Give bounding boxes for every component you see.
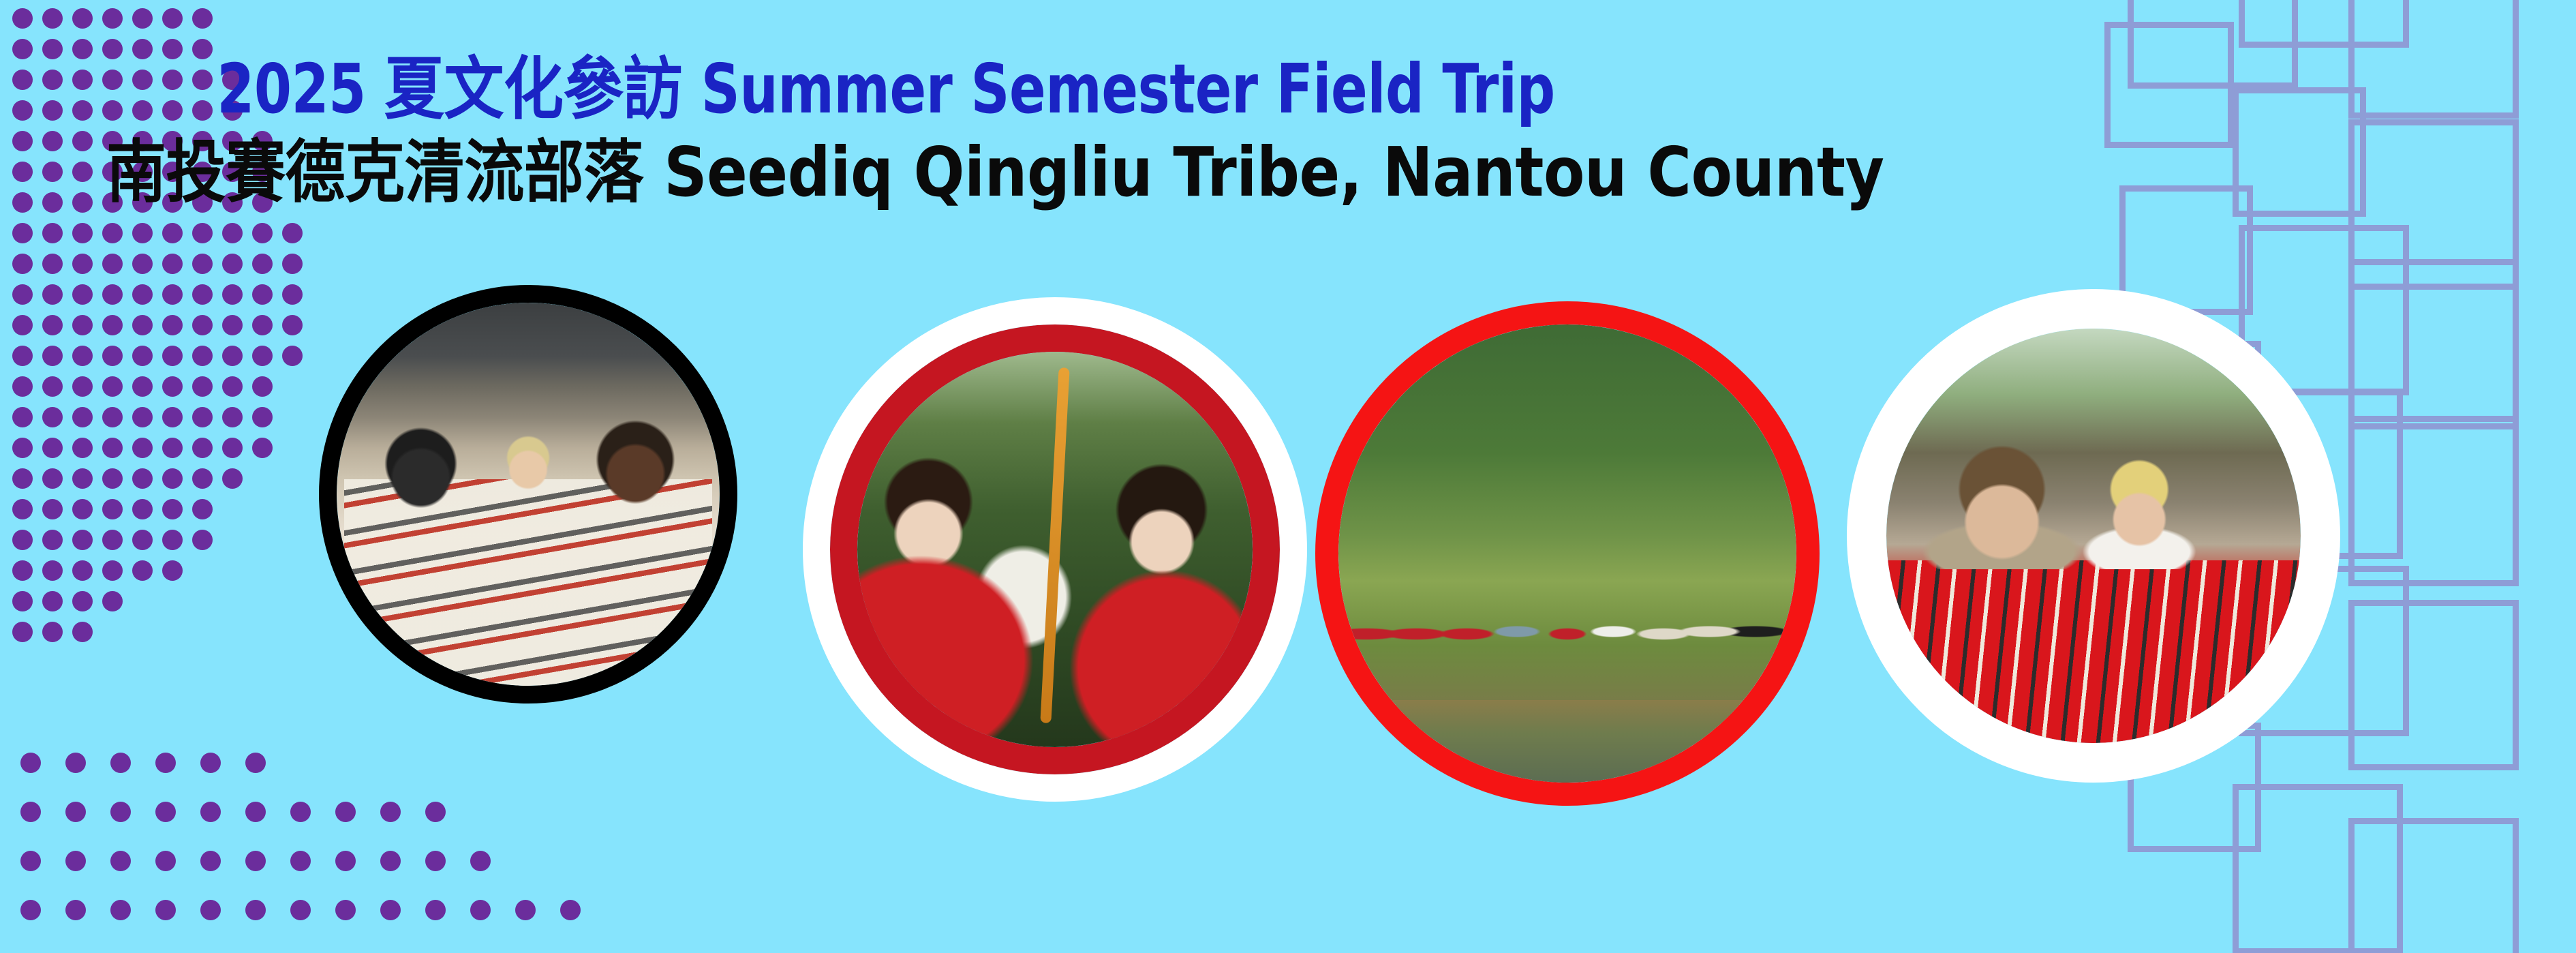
decorative-dot xyxy=(192,530,213,550)
photo-image-weaving xyxy=(1886,329,2301,743)
decorative-dot xyxy=(12,468,33,489)
page-subtitle: 南投賽德克清流部落 Seediq Qingliu Tribe, Nantou C… xyxy=(106,136,1666,209)
decorative-dot xyxy=(162,346,183,366)
decorative-square-outline xyxy=(2348,600,2519,770)
decorative-dot xyxy=(12,8,33,29)
decorative-dot xyxy=(42,284,63,305)
decorative-dot xyxy=(290,802,311,822)
decorative-dot xyxy=(245,900,266,920)
decorative-dot xyxy=(222,438,243,458)
decorative-dot xyxy=(162,407,183,427)
decorative-dot xyxy=(110,851,131,871)
decorative-dot xyxy=(155,900,176,920)
decorative-dot xyxy=(252,346,273,366)
decorative-dot xyxy=(222,223,243,243)
decorative-dot xyxy=(132,376,153,397)
decorative-dot xyxy=(282,254,303,274)
decorative-dot xyxy=(12,376,33,397)
decorative-dot xyxy=(252,407,273,427)
decorative-dot xyxy=(72,376,93,397)
decorative-dot xyxy=(200,753,221,773)
decorative-dot xyxy=(20,900,41,920)
decorative-dot xyxy=(162,376,183,397)
decorative-dot xyxy=(192,254,213,274)
decorative-dot xyxy=(162,223,183,243)
decorative-dot xyxy=(65,851,86,871)
decorative-dot xyxy=(200,900,221,920)
decorative-dot xyxy=(42,622,63,642)
decorative-dot xyxy=(222,315,243,335)
decorative-dot xyxy=(72,468,93,489)
decorative-dot xyxy=(252,223,273,243)
decorative-dot xyxy=(20,851,41,871)
decorative-dot xyxy=(162,468,183,489)
decorative-dot xyxy=(102,284,123,305)
decorative-dot xyxy=(222,407,243,427)
photo-circle-archery xyxy=(803,297,1307,802)
decorative-dot xyxy=(425,900,446,920)
decorative-dot xyxy=(42,315,63,335)
decorative-dot xyxy=(12,622,33,642)
decorative-dot xyxy=(102,560,123,581)
decorative-dot xyxy=(132,223,153,243)
decorative-dot xyxy=(192,438,213,458)
decorative-dot xyxy=(282,223,303,243)
decorative-dot xyxy=(162,530,183,550)
decorative-square-outline xyxy=(2348,818,2519,953)
decorative-dot xyxy=(132,560,153,581)
decorative-dot xyxy=(102,254,123,274)
decorative-dot xyxy=(102,499,123,519)
decorative-dot xyxy=(132,8,153,29)
decorative-dot xyxy=(155,851,176,871)
decorative-dot xyxy=(245,802,266,822)
decorative-dot xyxy=(102,8,123,29)
headline-block: 2025 夏文化參訪 Summer Semester Field Trip 南投… xyxy=(0,53,1772,209)
decorative-dot xyxy=(470,900,491,920)
decorative-dot xyxy=(12,499,33,519)
decorative-dot xyxy=(110,802,131,822)
decorative-dot xyxy=(222,254,243,274)
decorative-dot xyxy=(72,8,93,29)
decorative-dot xyxy=(12,560,33,581)
decorative-dot xyxy=(162,284,183,305)
decorative-dot xyxy=(102,223,123,243)
decorative-dot xyxy=(12,530,33,550)
decorative-dot xyxy=(335,900,356,920)
decorative-dot xyxy=(65,753,86,773)
decorative-dot xyxy=(65,900,86,920)
decorative-dot xyxy=(20,753,41,773)
decorative-dot xyxy=(65,802,86,822)
decorative-dot xyxy=(192,223,213,243)
decorative-square-outline xyxy=(2233,87,2366,217)
decorative-dot xyxy=(72,407,93,427)
decorative-dot xyxy=(192,346,213,366)
decorative-dot xyxy=(252,438,273,458)
photo-circle-group-paddy xyxy=(1315,301,1820,806)
decorative-dot xyxy=(192,499,213,519)
field-trip-banner: 2025 夏文化參訪 Summer Semester Field Trip 南投… xyxy=(0,0,2576,953)
decorative-dot xyxy=(222,376,243,397)
decorative-dot xyxy=(42,376,63,397)
decorative-dot xyxy=(132,284,153,305)
decorative-dot xyxy=(380,802,401,822)
photo-ring-red-2 xyxy=(830,324,1280,774)
photo-frame-1 xyxy=(337,303,720,686)
decorative-dot xyxy=(192,407,213,427)
decorative-dot xyxy=(132,499,153,519)
decorative-dot xyxy=(42,8,63,29)
decorative-dot xyxy=(72,622,93,642)
decorative-dot xyxy=(42,438,63,458)
decorative-dot xyxy=(20,802,41,822)
decorative-dot xyxy=(222,468,243,489)
decorative-dot xyxy=(12,591,33,611)
decorative-dot xyxy=(12,284,33,305)
decorative-dot xyxy=(102,407,123,427)
decorative-square-outline xyxy=(2128,0,2298,89)
decorative-dot xyxy=(72,346,93,366)
decorative-dot xyxy=(162,499,183,519)
decorative-dot xyxy=(425,802,446,822)
photo-circle-weaving xyxy=(1847,289,2340,783)
decorative-dot xyxy=(192,8,213,29)
decorative-dot xyxy=(12,315,33,335)
decorative-dot xyxy=(290,851,311,871)
decorative-dot xyxy=(42,530,63,550)
photo-image-students-sashes xyxy=(337,303,720,686)
decorative-dot xyxy=(42,223,63,243)
decorative-dot xyxy=(102,530,123,550)
decorative-dot xyxy=(380,900,401,920)
decorative-dot xyxy=(335,802,356,822)
decorative-dot xyxy=(560,900,581,920)
decorative-dot xyxy=(252,284,273,305)
decorative-dot xyxy=(192,376,213,397)
photo-frame-4 xyxy=(1886,329,2301,743)
decorative-dot xyxy=(110,753,131,773)
decorative-dot xyxy=(282,346,303,366)
dot-pattern-bottom-left xyxy=(0,736,654,953)
decorative-dot xyxy=(290,900,311,920)
decorative-dot xyxy=(42,468,63,489)
decorative-dot xyxy=(132,407,153,427)
decorative-dot xyxy=(42,254,63,274)
decorative-dot xyxy=(12,438,33,458)
page-title: 2025 夏文化參訪 Summer Semester Field Trip xyxy=(106,53,1666,125)
decorative-dot xyxy=(155,802,176,822)
decorative-square-outline xyxy=(2348,119,2519,290)
decorative-square-outline xyxy=(2348,0,2519,119)
decorative-dot xyxy=(252,254,273,274)
decorative-dot xyxy=(132,315,153,335)
decorative-dot xyxy=(282,284,303,305)
decorative-square-outline xyxy=(2104,22,2234,148)
photo-circle-students-sashes xyxy=(319,285,737,704)
decorative-dot xyxy=(12,346,33,366)
decorative-dot xyxy=(252,376,273,397)
decorative-dot xyxy=(200,851,221,871)
decorative-dot xyxy=(72,223,93,243)
decorative-dot xyxy=(42,499,63,519)
decorative-dot xyxy=(245,851,266,871)
decorative-dot xyxy=(132,346,153,366)
decorative-dot xyxy=(192,315,213,335)
decorative-square-outline xyxy=(2348,416,2519,586)
decorative-dot xyxy=(162,254,183,274)
decorative-dot xyxy=(72,315,93,335)
decorative-dot xyxy=(72,591,93,611)
decorative-dot xyxy=(245,753,266,773)
photo-image-group-paddy xyxy=(1338,324,1796,783)
decorative-dot xyxy=(102,591,123,611)
decorative-dot xyxy=(42,346,63,366)
decorative-dot xyxy=(132,530,153,550)
decorative-dot xyxy=(102,468,123,489)
decorative-dot xyxy=(42,560,63,581)
decorative-dot xyxy=(155,753,176,773)
decorative-dot xyxy=(252,315,273,335)
decorative-dot xyxy=(162,8,183,29)
decorative-dot xyxy=(222,284,243,305)
decorative-dot xyxy=(72,560,93,581)
decorative-dot xyxy=(72,499,93,519)
decorative-dot xyxy=(162,560,183,581)
decorative-dot xyxy=(72,254,93,274)
decorative-dot xyxy=(200,802,221,822)
decorative-dot xyxy=(102,376,123,397)
decorative-square-outline xyxy=(2233,784,2403,953)
decorative-dot xyxy=(72,284,93,305)
decorative-dot xyxy=(12,254,33,274)
decorative-dot xyxy=(192,468,213,489)
decorative-dot xyxy=(425,851,446,871)
decorative-dot xyxy=(162,438,183,458)
decorative-dot xyxy=(102,346,123,366)
decorative-dot xyxy=(102,438,123,458)
decorative-dot xyxy=(380,851,401,871)
decorative-dot xyxy=(132,438,153,458)
decorative-dot xyxy=(12,223,33,243)
decorative-dot xyxy=(42,407,63,427)
decorative-square-outline xyxy=(2348,259,2519,429)
photo-frame-3 xyxy=(1338,324,1796,783)
decorative-dot xyxy=(42,591,63,611)
decorative-square-outline xyxy=(2239,0,2409,48)
decorative-dot xyxy=(72,438,93,458)
photo-frame-2 xyxy=(857,352,1253,747)
decorative-dot xyxy=(132,468,153,489)
decorative-dot xyxy=(192,284,213,305)
decorative-dot xyxy=(515,900,536,920)
photo-image-archery xyxy=(857,352,1253,747)
decorative-dot xyxy=(110,900,131,920)
decorative-dot xyxy=(102,315,123,335)
decorative-dot xyxy=(222,346,243,366)
decorative-dot xyxy=(72,530,93,550)
decorative-dot xyxy=(282,315,303,335)
decorative-dot xyxy=(335,851,356,871)
decorative-dot xyxy=(470,851,491,871)
decorative-dot xyxy=(12,407,33,427)
decorative-dot xyxy=(132,254,153,274)
decorative-dot xyxy=(162,315,183,335)
